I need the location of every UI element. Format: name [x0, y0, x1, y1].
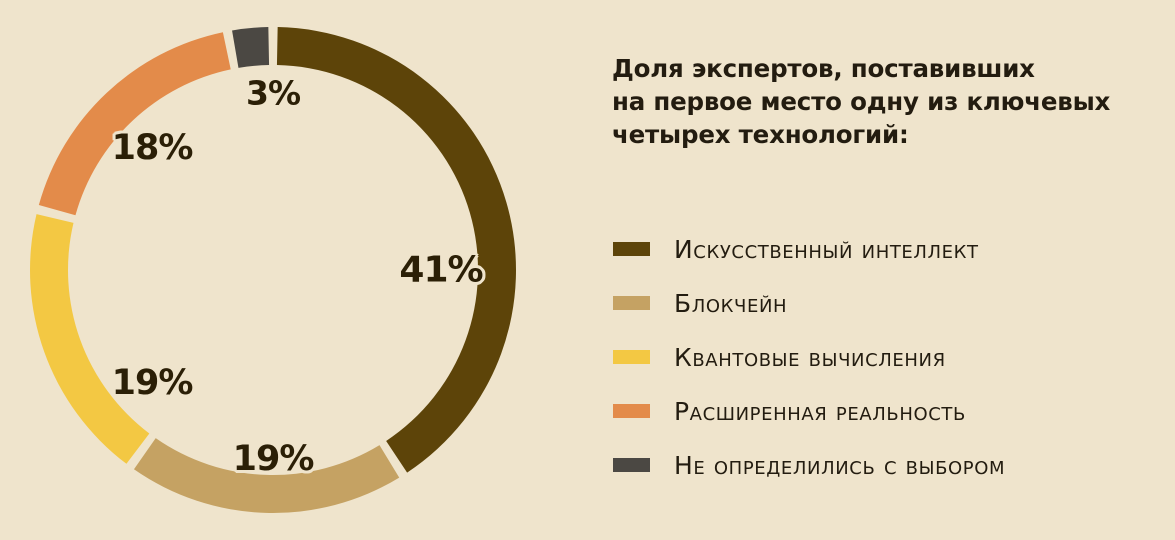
legend-item[interactable]: Искусственный интеллект [613, 222, 1163, 276]
legend-item-label: Блокчейн [674, 291, 787, 316]
legend-color-swatch [613, 458, 650, 472]
slice-percentage-label: 19% [112, 363, 193, 403]
donut-slice[interactable] [39, 32, 231, 215]
legend-item-label: Расширенная реальность [674, 399, 966, 424]
legend-color-swatch [613, 404, 650, 418]
chart-info-panel: Доля экспертов, поставивших на первое ме… [612, 0, 1175, 540]
chart-title: Доля экспертов, поставивших на первое ме… [612, 52, 1157, 151]
legend-item[interactable]: Расширенная реальность [613, 384, 1163, 438]
slice-percentage-label: 19% [233, 439, 314, 479]
chart-title-line-2: на первое место одну из ключевых [612, 87, 1110, 116]
chart-title-line-1: Доля экспертов, поставивших [612, 54, 1035, 83]
legend-color-swatch [613, 296, 650, 310]
legend-item[interactable]: Не определились с выбором [613, 438, 1163, 492]
legend-color-swatch [613, 242, 650, 256]
donut-slice[interactable] [30, 214, 149, 464]
chart-legend: Искусственный интеллектБлокчейнКвантовые… [613, 222, 1163, 492]
legend-color-swatch [613, 350, 650, 364]
legend-item-label: Не определились с выбором [674, 453, 1005, 478]
legend-item[interactable]: Квантовые вычисления [613, 330, 1163, 384]
slice-percentage-label: 18% [112, 128, 193, 168]
donut-chart: 41%19%19%18%3% [0, 0, 560, 540]
slice-percentage-label: 3% [246, 74, 300, 113]
chart-canvas: 41%19%19%18%3% Доля экспертов, поставивш… [0, 0, 1175, 540]
legend-item[interactable]: Блокчейн [613, 276, 1163, 330]
legend-item-label: Искусственный интеллект [674, 237, 979, 262]
slice-percentage-label: 41% [399, 250, 482, 291]
donut-slice[interactable] [232, 27, 269, 68]
legend-item-label: Квантовые вычисления [674, 345, 946, 370]
chart-title-line-3: четырех технологий: [612, 120, 909, 149]
